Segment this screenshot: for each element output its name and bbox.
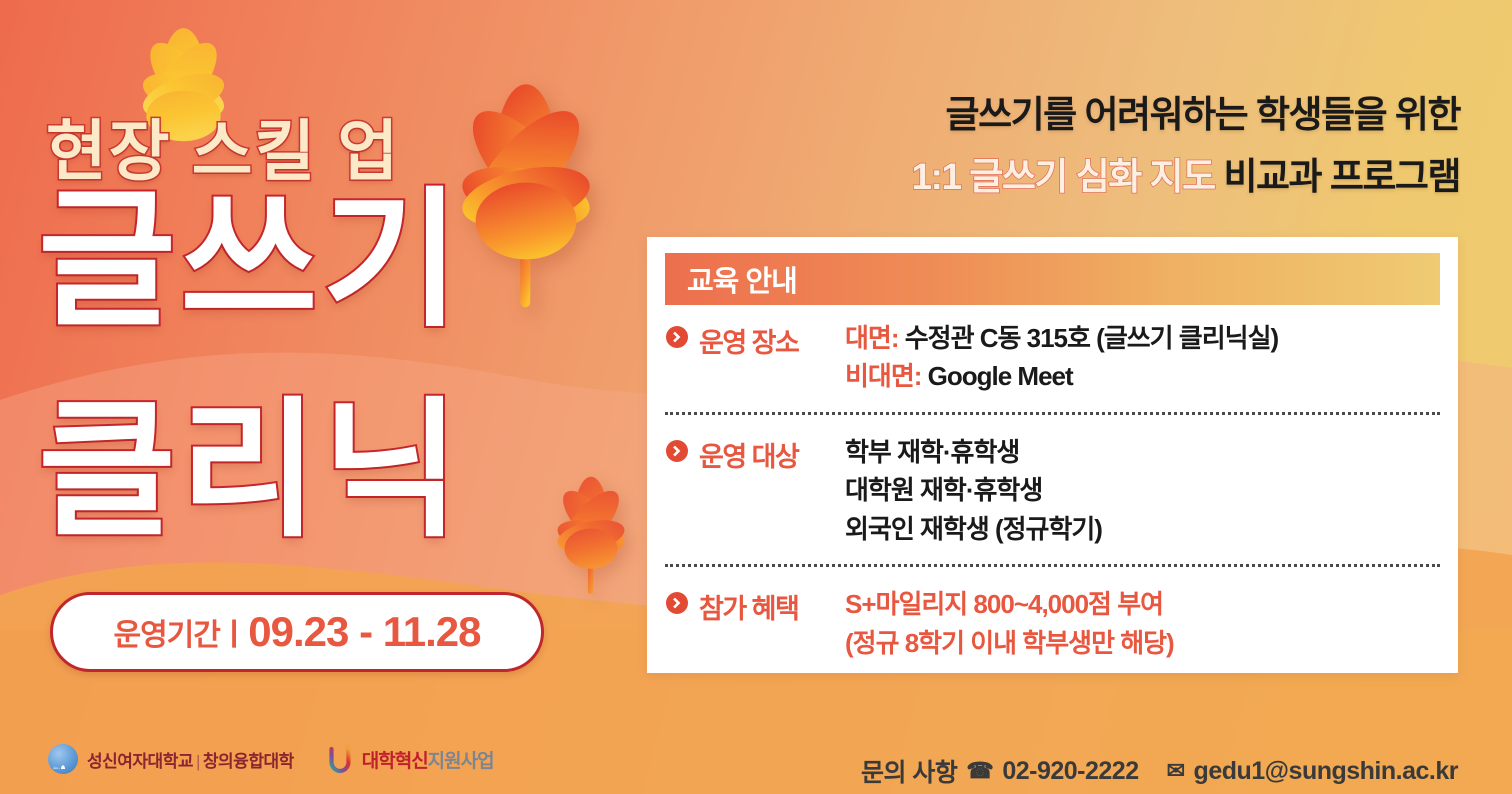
info-row-line: 외국인 재학생 (정규학기) — [845, 510, 1102, 548]
info-row-line: 비대면: Google Meet — [845, 357, 1278, 395]
headline-line2: 1:1 글쓰기 심화 지도 비교과 프로그램 — [912, 146, 1460, 200]
innovation-logo: 대학혁신지원사업 — [328, 744, 494, 774]
info-row-label: 운영 대상 — [699, 435, 798, 474]
info-row-line: 학부 재학·휴학생 — [845, 433, 1102, 471]
chevron-right-circle-icon — [665, 591, 689, 615]
period-separator: | — [230, 615, 238, 649]
info-card: 교육 안내 운영 장소 대면: 수정관 C동 3 — [647, 237, 1458, 673]
info-row-label-wrap: 운영 대상 — [665, 433, 845, 474]
info-row-benefit: 참가 혜택 S+마일리지 800~4,000점 부여 (정규 8학기 이내 학부… — [665, 585, 1440, 662]
contact-label: 문의 사항 — [861, 753, 957, 789]
sungshin-name-sub: 창의융합대학 — [203, 752, 294, 771]
sungshin-emblem-icon — [48, 744, 78, 774]
info-line-accent: 비대면: — [845, 361, 921, 391]
contact-phone: 02-920-2222 — [1002, 757, 1138, 786]
info-row-value: 대면: 수정관 C동 315호 (글쓰기 클리닉실) 비대면: Google M… — [845, 319, 1278, 396]
period-badge: 운영기간 | 09.23 - 11.28 — [50, 592, 544, 672]
info-row-label-wrap: 운영 장소 — [665, 319, 845, 360]
innovation-logo-text: 대학혁신지원사업 — [362, 746, 494, 773]
info-card-header: 교육 안내 — [665, 253, 1440, 305]
info-line-plain: 수정관 C동 315호 (글쓰기 클리닉실) — [905, 323, 1278, 353]
info-row-line: (정규 8학기 이내 학부생만 해당) — [845, 624, 1174, 662]
u-innovation-icon — [328, 744, 353, 774]
info-row-line: 대학원 재학·휴학생 — [845, 471, 1102, 509]
footer-logo-row: 성신여자대학교|창의융합대학 — [48, 744, 494, 774]
chevron-right-circle-icon — [665, 439, 689, 463]
info-card-heading: 교육 안내 — [687, 258, 797, 300]
info-row-label-wrap: 참가 혜택 — [665, 585, 845, 626]
mail-icon: ✉ — [1167, 760, 1185, 782]
left-title-column: 현장 스킬 업 글쓰기 클리닉 운영기간 | 09.23 - 11.28 — [0, 0, 640, 794]
period-label: 운영기간 — [113, 610, 219, 654]
contact-info: 문의 사항 ☎ 02-920-2222 ✉ gedu1@sungshin.ac.… — [861, 753, 1458, 789]
innovation-name-sub: 지원사업 — [428, 751, 494, 772]
chevron-right-circle-icon — [665, 325, 689, 349]
headline-highlight: 1:1 글쓰기 심화 지도 — [912, 156, 1215, 197]
info-row-audience: 운영 대상 학부 재학·휴학생 대학원 재학·휴학생 외국인 재학생 (정규학기… — [665, 433, 1440, 548]
poster-canvas: 현장 스킬 업 글쓰기 클리닉 운영기간 | 09.23 - 11.28 글쓰기… — [0, 0, 1512, 794]
sungshin-name-main: 성신여자대학교 — [87, 752, 193, 771]
poster-title-line2: 클리닉 — [38, 395, 464, 545]
info-line-plain: Google Meet — [928, 361, 1073, 391]
info-row-label: 참가 혜택 — [699, 587, 798, 626]
info-row-value: S+마일리지 800~4,000점 부여 (정규 8학기 이내 학부생만 해당) — [845, 585, 1174, 662]
info-row-line: 대면: 수정관 C동 315호 (글쓰기 클리닉실) — [845, 319, 1278, 357]
info-card-body: 운영 장소 대면: 수정관 C동 315호 (글쓰기 클리닉실) 비대면: Go… — [665, 319, 1440, 662]
headline-line1: 글쓰기를 어려워하는 학생들을 위한 — [946, 84, 1460, 138]
row-divider — [665, 564, 1440, 567]
sungshin-name-divider: | — [196, 752, 200, 771]
info-line-accent: 대면: — [845, 323, 899, 353]
sungshin-logo-text: 성신여자대학교|창의융합대학 — [87, 747, 294, 772]
innovation-name-main: 대학혁신 — [362, 751, 428, 772]
info-row-label: 운영 장소 — [699, 321, 798, 360]
poster-title-line1: 글쓰기 — [38, 185, 464, 335]
period-value: 09.23 - 11.28 — [248, 608, 480, 656]
contact-email: gedu1@sungshin.ac.kr — [1194, 757, 1458, 786]
info-row-line: S+마일리지 800~4,000점 부여 — [845, 585, 1174, 623]
row-divider — [665, 412, 1440, 415]
sungshin-logo: 성신여자대학교|창의융합대학 — [48, 744, 294, 774]
info-row-value: 학부 재학·휴학생 대학원 재학·휴학생 외국인 재학생 (정규학기) — [845, 433, 1102, 548]
headline-plain: 비교과 프로그램 — [1223, 156, 1460, 197]
phone-icon: ☎ — [966, 760, 993, 782]
info-row-location: 운영 장소 대면: 수정관 C동 315호 (글쓰기 클리닉실) 비대면: Go… — [665, 319, 1440, 396]
